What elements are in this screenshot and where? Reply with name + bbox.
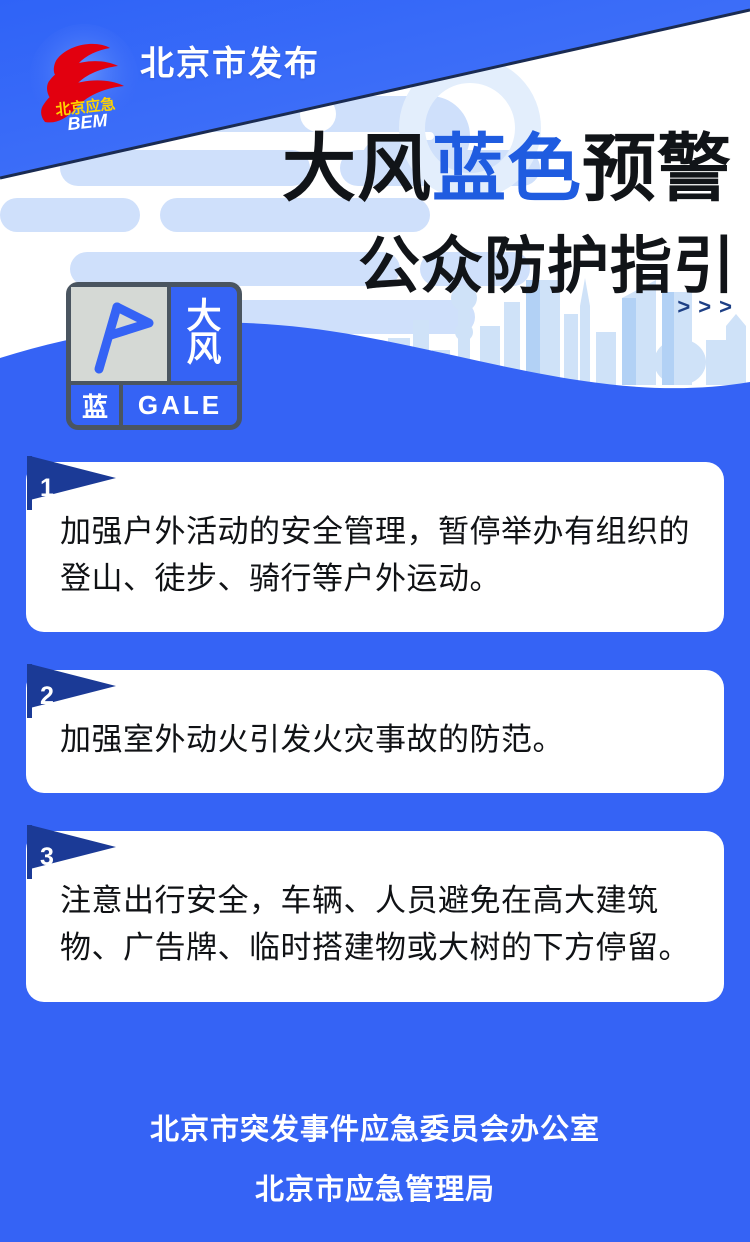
card-number: 2 bbox=[40, 684, 54, 709]
headline-part1: 大风 bbox=[282, 127, 432, 210]
number-flag-badge bbox=[24, 448, 120, 510]
chevron-right-icon: > bbox=[719, 296, 732, 318]
chevron-right-icon: > bbox=[677, 296, 690, 318]
guidance-card: 1 加强户外活动的安全管理，暂停举办有组织的登山、徒步、骑行等户外运动。 bbox=[26, 462, 724, 632]
card-text: 加强室外动火引发火灾事故的防范。 bbox=[60, 716, 694, 763]
number-flag-badge bbox=[24, 817, 120, 879]
guidance-card: 3 注意出行安全，车辆、人员避免在高大建筑物、广告牌、临时搭建物或大树的下方停留… bbox=[26, 831, 724, 1001]
card-number: 1 bbox=[40, 476, 54, 501]
guidance-card: 2 加强室外动火引发火灾事故的防范。 bbox=[26, 670, 724, 793]
card-text: 注意出行安全，车辆、人员避免在高大建筑物、广告牌、临时搭建物或大树的下方停留。 bbox=[60, 877, 694, 971]
poster-root: 北京应急 BEM 北京市发布 大风蓝色预警 公众防护指引 > > > 大 风 bbox=[0, 0, 750, 1242]
footer-org-line-1: 北京市突发事件应急委员会办公室 bbox=[0, 1106, 750, 1148]
headline-highlight: 蓝色 bbox=[432, 127, 582, 210]
chevron-right-icon: > bbox=[698, 296, 711, 318]
warning-sign-english-label: GALE bbox=[123, 385, 237, 425]
number-flag-badge bbox=[24, 656, 120, 718]
warning-sign-type-label: 大 风 bbox=[171, 287, 237, 381]
card-text: 加强户外活动的安全管理，暂停举办有组织的登山、徒步、骑行等户外运动。 bbox=[60, 508, 694, 602]
page-subtitle: 公众防护指引 bbox=[358, 236, 736, 298]
warning-sign-level-label: 蓝 bbox=[71, 385, 123, 425]
warning-sign-bottom-row: 蓝 GALE bbox=[71, 385, 237, 425]
footer-org-line-2: 北京市应急管理局 bbox=[0, 1166, 750, 1208]
svg-text:BEM: BEM bbox=[66, 110, 109, 134]
warning-type-char-2: 风 bbox=[186, 334, 221, 367]
page-title: 大风蓝色预警 bbox=[282, 132, 732, 206]
chevron-right-icon-group: > > > bbox=[677, 296, 732, 318]
guidance-card-list: 1 加强户外活动的安全管理，暂停举办有组织的登山、徒步、骑行等户外运动。 2 加… bbox=[0, 462, 750, 1040]
card-number: 3 bbox=[40, 845, 54, 870]
headline-part3: 预警 bbox=[582, 127, 732, 210]
wind-flag-icon bbox=[71, 287, 171, 381]
beijing-emergency-logo: 北京应急 BEM bbox=[28, 24, 140, 134]
brand-title: 北京市发布 bbox=[140, 36, 320, 85]
footer: 北京市突发事件应急委员会办公室 北京市应急管理局 bbox=[0, 1106, 750, 1208]
warning-sign-top-row: 大 风 bbox=[71, 287, 237, 385]
gale-blue-warning-sign: 大 风 蓝 GALE bbox=[66, 282, 242, 430]
